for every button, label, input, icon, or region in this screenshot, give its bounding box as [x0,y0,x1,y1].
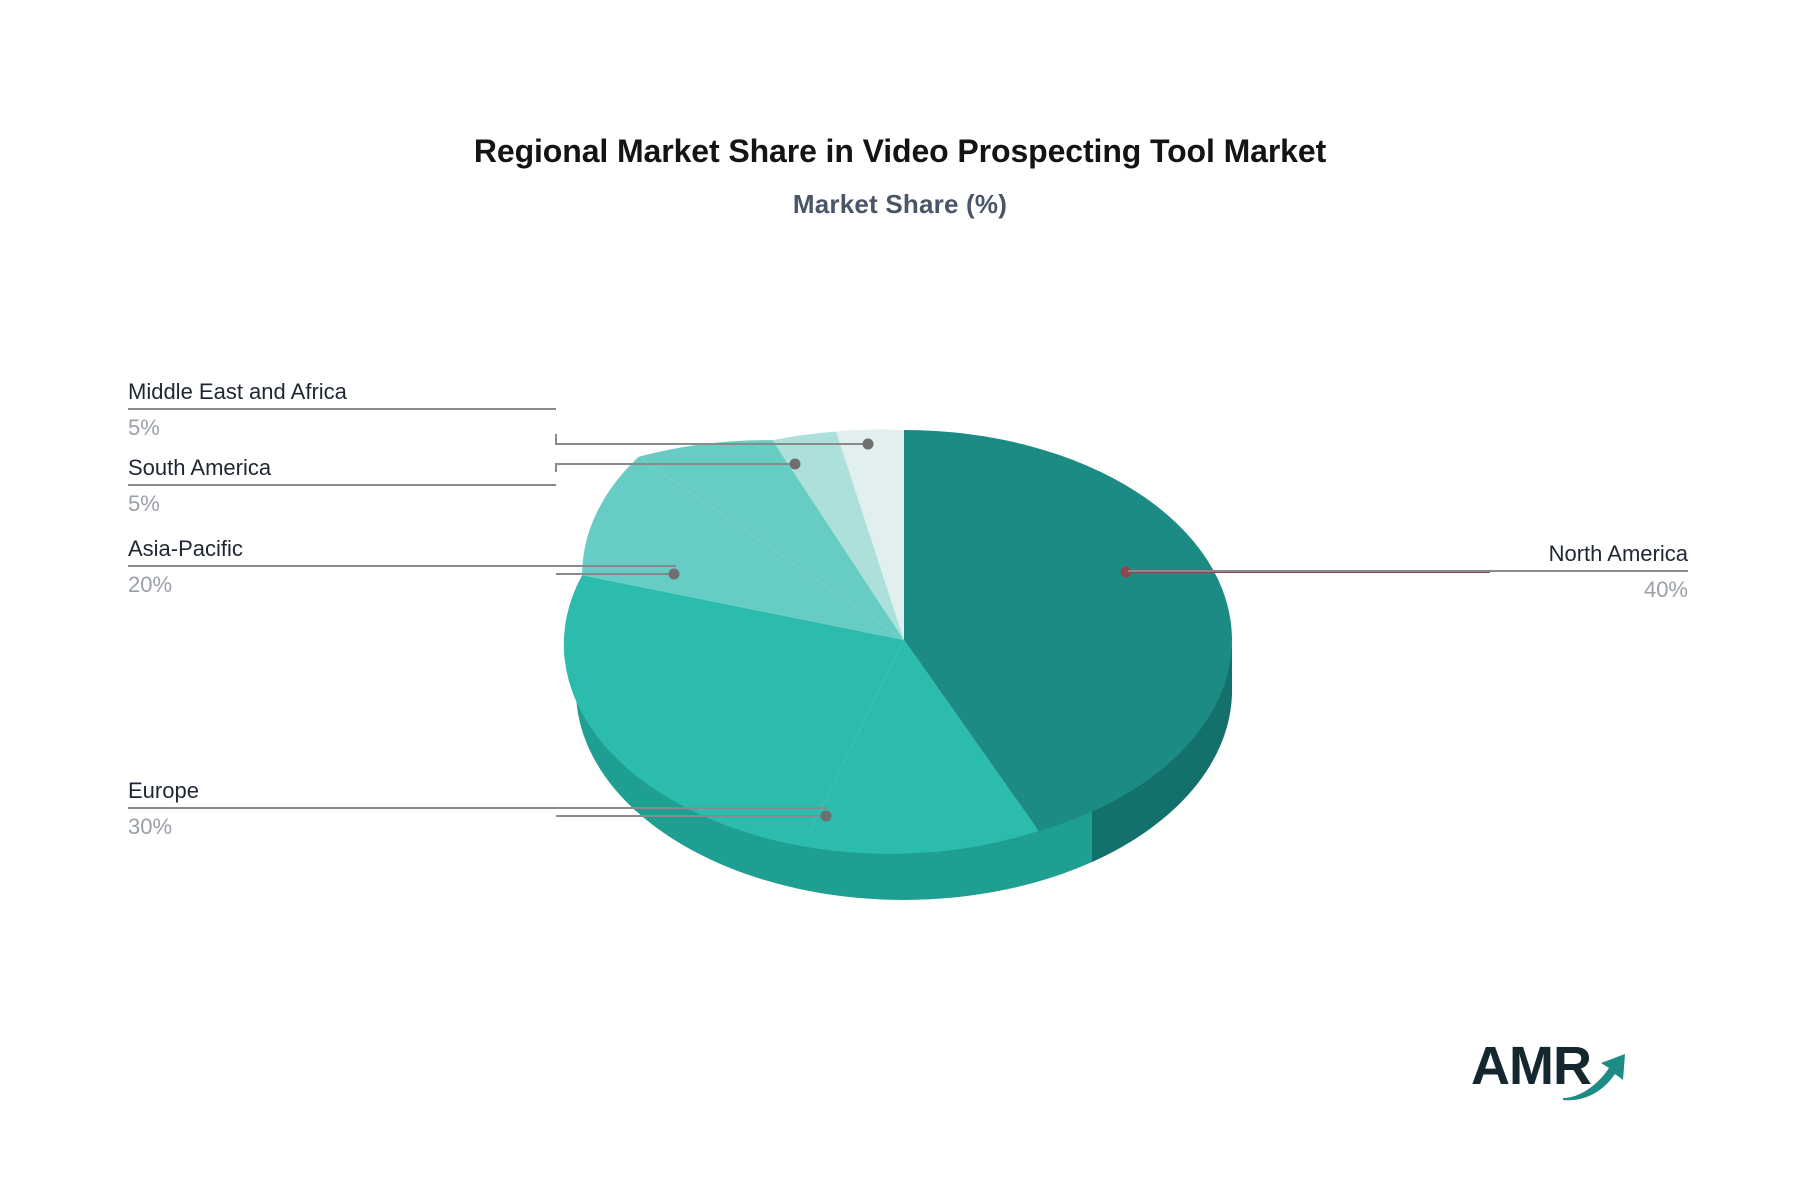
leader-dot-sa [790,459,801,470]
pie-slice-south-america [773,432,905,640]
chart-title: Regional Market Share in Video Prospecti… [0,133,1800,170]
chart-subtitle: Market Share (%) [0,189,1800,220]
callout-label-apac: Asia-Pacific [128,537,676,565]
callout-asia-pacific: Asia-Pacific 20% [128,537,676,596]
callout-label-mea: Middle East and Africa [128,380,556,408]
pie-slice-north-america-top [904,430,1232,640]
amr-logo: AMR [1471,1032,1641,1104]
pie-slice-asia-pacific-b [639,440,904,640]
callout-label-europe: Europe [128,779,828,807]
callout-value-na: 40% [1128,572,1688,601]
callout-value-sa: 5% [128,486,556,515]
leader-dot-mea [863,439,874,450]
pie-side-walls [576,640,1232,900]
chart-canvas: Regional Market Share in Video Prospecti… [0,0,1800,1196]
callout-value-apac: 20% [128,567,676,596]
pie-slice-europe [803,640,1039,854]
callout-south-america: South America 5% [128,456,556,515]
callout-value-mea: 5% [128,410,556,439]
pie-slice-north-america [904,640,1232,831]
callout-europe: Europe 30% [128,779,828,838]
callout-value-europe: 30% [128,809,828,838]
callout-north-america: North America 40% [1128,542,1688,601]
pie-slice-middle-east-africa [836,430,904,640]
callout-label-sa: South America [128,456,556,484]
callout-label-na: North America [1128,542,1688,570]
amr-logo-text: AMR [1471,1036,1591,1096]
callout-middle-east-africa: Middle East and Africa 5% [128,380,556,439]
